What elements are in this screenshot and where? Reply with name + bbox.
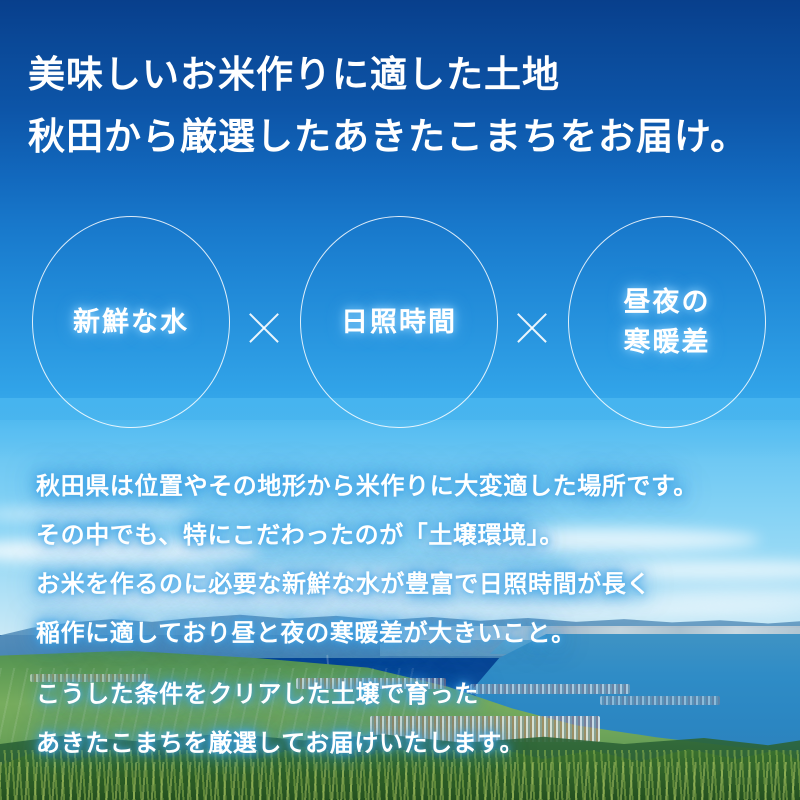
factor-circle-fresh-water: 新鮮な水 [32, 216, 230, 428]
body-line: こうした条件をクリアした土壌で育った [36, 670, 776, 719]
paragraph-gap [36, 658, 776, 670]
multiply-icon [244, 308, 284, 348]
headline-line-2: 秋田から厳選したあきたこまちをお届け。 [28, 106, 772, 168]
body-line: あきたこまちを厳選してお届けいたします。 [36, 719, 776, 768]
factor-circles-row: 新鮮な水 日照時間 昼夜の 寒暖差 [0, 212, 800, 432]
factor-label-fresh-water: 新鮮な水 [73, 302, 189, 342]
body-line: 稲作に適しており昼と夜の寒暖差が大きいこと。 [36, 609, 776, 658]
factor-label-sunshine-hours: 日照時間 [341, 302, 457, 342]
body-copy: 秋田県は位置やその地形から米作りに大変適した場所です。 その中でも、特にこだわっ… [36, 462, 776, 768]
factor-circle-sunshine-hours: 日照時間 [300, 216, 498, 428]
headline: 美味しいお米作りに適した土地 秋田から厳選したあきたこまちをお届け。 [28, 44, 772, 168]
factor-circle-temperature-difference: 昼夜の 寒暖差 [568, 216, 766, 428]
factor-label-temperature-difference: 昼夜の 寒暖差 [624, 282, 711, 362]
promo-banner: 美味しいお米作りに適した土地 秋田から厳選したあきたこまちをお届け。 新鮮な水 … [0, 0, 800, 800]
headline-line-1: 美味しいお米作りに適した土地 [28, 44, 772, 106]
body-line: その中でも、特にこだわったのが「土壌環境」。 [36, 511, 776, 560]
body-line: お米を作るのに必要な新鮮な水が豊富で日照時間が長く [36, 560, 776, 609]
body-line: 秋田県は位置やその地形から米作りに大変適した場所です。 [36, 462, 776, 511]
multiply-icon [512, 308, 552, 348]
